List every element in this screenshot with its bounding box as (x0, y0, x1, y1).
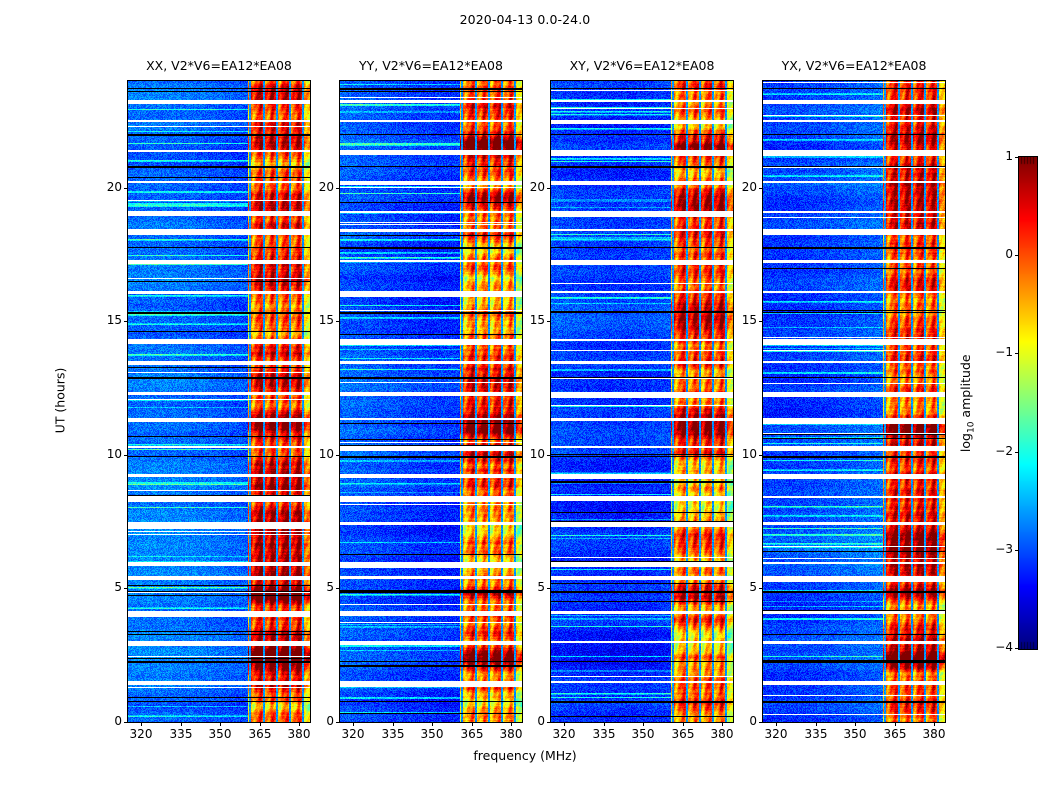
xtick-mark (564, 722, 565, 726)
ytick-mark (547, 588, 551, 589)
ytick-mark (124, 321, 128, 322)
xtick-mark (353, 722, 354, 726)
ytick-mark (759, 455, 763, 456)
xtick-mark (472, 722, 473, 726)
panel-yx-ytick-15: 15 (715, 313, 757, 327)
panel-xx-title: XX, V2*V6=EA12*EA08 (98, 58, 340, 73)
ytick-mark (124, 588, 128, 589)
colorbar-tick--2: −2 (973, 444, 1013, 458)
figure-canvas: 2020-04-13 0.0-24.0 XX, V2*V6=EA12*EA080… (0, 0, 1050, 800)
panel-xy-ytick-0: 0 (503, 714, 545, 728)
colorbar-tick--1: −1 (973, 345, 1013, 359)
panel-xx-ytick-0: 0 (80, 714, 122, 728)
xtick-mark (895, 722, 896, 726)
panel-yx-ytick-0: 0 (715, 714, 757, 728)
panel-xy-ytick-15: 15 (503, 313, 545, 327)
panel-xx-ytick-20: 20 (80, 180, 122, 194)
panel-yx[interactable] (762, 80, 946, 723)
ytick-mark (336, 588, 340, 589)
xtick-mark (776, 722, 777, 726)
ytick-mark (336, 321, 340, 322)
panel-xy-xtick-380: 380 (697, 727, 747, 741)
ytick-mark (336, 455, 340, 456)
panel-xy-title: XY, V2*V6=EA12*EA08 (521, 58, 763, 73)
panel-yy-ytick-0: 0 (292, 714, 334, 728)
colorbar-tick--4: −4 (973, 640, 1013, 654)
panel-yy-ytick-5: 5 (292, 580, 334, 594)
panel-yy-xtick-380: 380 (486, 727, 536, 741)
ytick-mark (547, 321, 551, 322)
colorbar-label: log10 amplitude (958, 293, 977, 513)
panel-yy[interactable] (339, 80, 523, 723)
ytick-mark (547, 722, 551, 723)
ytick-mark (336, 188, 340, 189)
ytick-mark (547, 455, 551, 456)
xtick-mark (683, 722, 684, 726)
figure-suptitle: 2020-04-13 0.0-24.0 (0, 12, 1050, 27)
xtick-mark (393, 722, 394, 726)
panel-yy-title: YY, V2*V6=EA12*EA08 (310, 58, 552, 73)
panel-xy-ytick-10: 10 (503, 447, 545, 461)
xtick-mark (934, 722, 935, 726)
panel-yy-image (340, 81, 522, 722)
panel-xy-ytick-5: 5 (503, 580, 545, 594)
colorbar[interactable] (1018, 156, 1038, 650)
ytick-mark (124, 722, 128, 723)
ytick-mark (759, 321, 763, 322)
colorbar-tick--3: −3 (973, 542, 1013, 556)
panel-xx-image (128, 81, 310, 722)
panel-xx-xtick-380: 380 (274, 727, 324, 741)
panel-yx-image (763, 81, 945, 722)
panel-yx-ytick-5: 5 (715, 580, 757, 594)
panel-yx-title: YX, V2*V6=EA12*EA08 (733, 58, 975, 73)
ytick-mark (124, 188, 128, 189)
panel-xx-ytick-15: 15 (80, 313, 122, 327)
panel-yx-ytick-10: 10 (715, 447, 757, 461)
colorbar-tick-mark (1015, 157, 1019, 158)
xtick-mark (432, 722, 433, 726)
panel-xx[interactable] (127, 80, 311, 723)
ytick-mark (759, 722, 763, 723)
xtick-mark (220, 722, 221, 726)
xtick-mark (643, 722, 644, 726)
colorbar-tick-mark (1015, 550, 1019, 551)
xtick-mark (855, 722, 856, 726)
panel-xy[interactable] (550, 80, 734, 723)
panel-yy-ytick-10: 10 (292, 447, 334, 461)
xtick-mark (816, 722, 817, 726)
x-axis-label: frequency (MHz) (0, 748, 1050, 763)
ytick-mark (759, 188, 763, 189)
ytick-mark (124, 455, 128, 456)
panel-xy-ytick-20: 20 (503, 180, 545, 194)
colorbar-label-suffix: amplitude (958, 354, 973, 421)
ytick-mark (336, 722, 340, 723)
xtick-mark (604, 722, 605, 726)
colorbar-gradient (1019, 157, 1037, 649)
colorbar-tick-1: 1 (973, 149, 1013, 163)
ytick-mark (547, 188, 551, 189)
panel-xx-ytick-10: 10 (80, 447, 122, 461)
panel-yy-ytick-15: 15 (292, 313, 334, 327)
colorbar-tick-0: 0 (973, 247, 1013, 261)
colorbar-tick-mark (1015, 353, 1019, 354)
panel-yx-ytick-20: 20 (715, 180, 757, 194)
colorbar-label-subscript: 10 (966, 422, 976, 433)
colorbar-tick-mark (1015, 255, 1019, 256)
xtick-mark (181, 722, 182, 726)
xtick-mark (260, 722, 261, 726)
panel-xy-image (551, 81, 733, 722)
colorbar-tick-mark (1015, 648, 1019, 649)
y-axis-label: UT (hours) (53, 300, 68, 500)
colorbar-tick-mark (1015, 452, 1019, 453)
panel-yy-ytick-20: 20 (292, 180, 334, 194)
panel-xx-ytick-5: 5 (80, 580, 122, 594)
xtick-mark (141, 722, 142, 726)
colorbar-label-prefix: log (958, 433, 973, 452)
ytick-mark (759, 588, 763, 589)
panel-yx-xtick-380: 380 (909, 727, 959, 741)
